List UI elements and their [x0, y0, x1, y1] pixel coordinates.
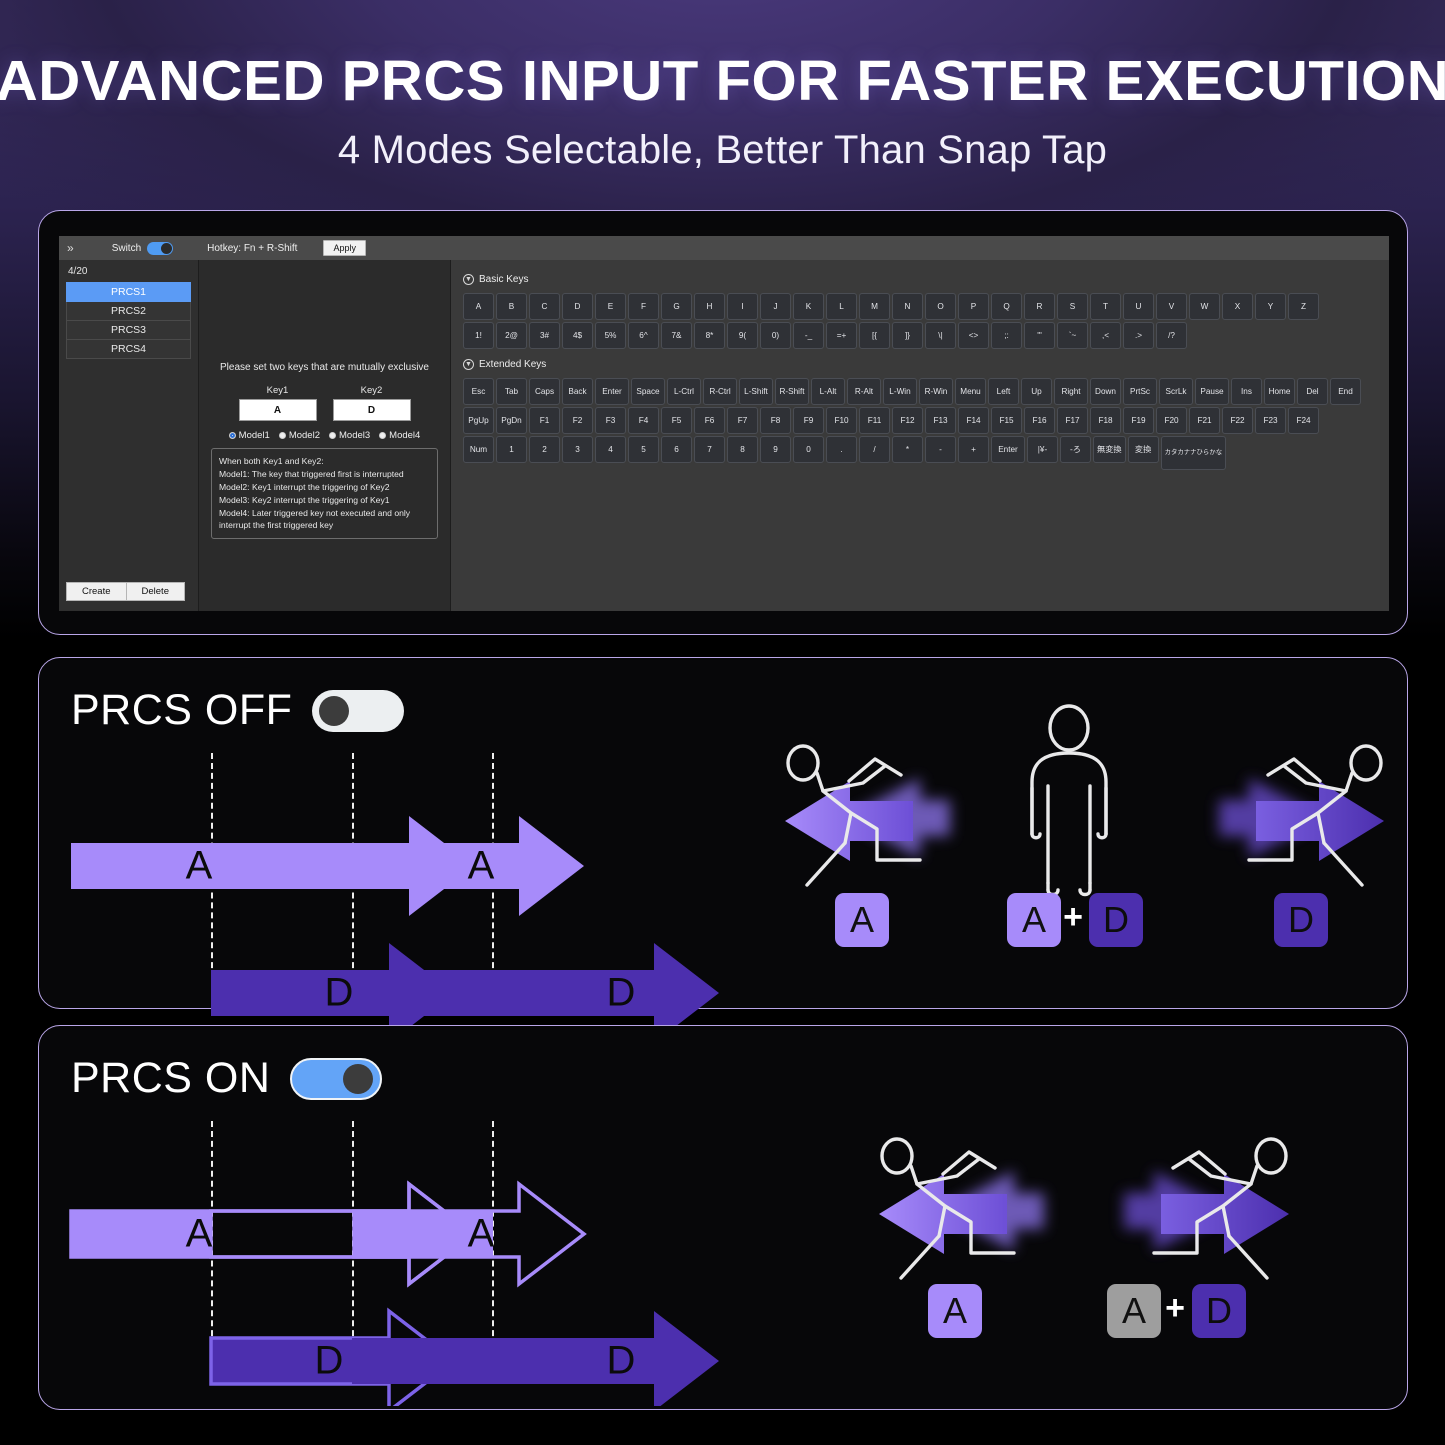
key-3[interactable]: 3# [529, 322, 560, 349]
key-lwin[interactable]: L-Win [883, 378, 917, 405]
key-[interactable]: .> [1123, 322, 1154, 349]
key-[interactable]: 変換 [1128, 436, 1159, 463]
key-badge-d: D [1192, 1284, 1246, 1338]
arrow-d-2-label: D [607, 971, 636, 1016]
key-badge-d: D [1274, 893, 1328, 947]
arrow-a-1-label: A [186, 1212, 213, 1257]
window-toolbar: » Switch Hotkey: Fn + R-Shift Apply [59, 236, 1389, 260]
key-1[interactable]: 1 [496, 436, 527, 463]
key-lctrl[interactable]: L-Ctrl [667, 378, 701, 405]
key-y[interactable]: Y [1255, 293, 1286, 320]
create-button[interactable]: Create [66, 582, 127, 601]
key-f1[interactable]: F1 [529, 407, 560, 434]
key-up[interactable]: Up [1021, 378, 1052, 405]
key-f19[interactable]: F19 [1123, 407, 1154, 434]
key-f22[interactable]: F22 [1222, 407, 1253, 434]
key-f23[interactable]: F23 [1255, 407, 1286, 434]
key-[interactable]: カタカナナひらかな [1161, 436, 1227, 470]
prcs-on-diagram: A A D D A [39, 1026, 1409, 1409]
key-badge-a: A [1007, 893, 1061, 947]
key-f6[interactable]: F6 [694, 407, 725, 434]
profile-list: PRCS1PRCS2PRCS3PRCS4 [59, 282, 198, 359]
key-2[interactable]: 2 [529, 436, 560, 463]
key-8[interactable]: 8* [694, 322, 725, 349]
profile-item-prcs1[interactable]: PRCS1 [66, 282, 191, 302]
arrow-timeline-off [59, 738, 759, 1038]
radio-label: Model2 [289, 430, 320, 441]
key-pgdn[interactable]: PgDn [496, 407, 527, 434]
key-rctrl[interactable]: R-Ctrl [703, 378, 737, 405]
key1-label: Key1 [239, 385, 317, 396]
key-[interactable]: ,< [1090, 322, 1121, 349]
radio-model3[interactable]: Model3 [329, 430, 370, 441]
hotkey-label: Hotkey: Fn + R-Shift [207, 243, 297, 254]
key-g[interactable]: G [661, 293, 692, 320]
key-lalt[interactable]: L-Alt [811, 378, 845, 405]
chevron-down-circle-icon: ▼ [463, 274, 474, 285]
key-0[interactable]: 0) [760, 322, 791, 349]
key-caps[interactable]: Caps [529, 378, 560, 405]
key-[interactable]: <> [958, 322, 989, 349]
profile-item-prcs2[interactable]: PRCS2 [66, 302, 191, 321]
key-f10[interactable]: F10 [826, 407, 857, 434]
key-z[interactable]: Z [1288, 293, 1319, 320]
key-f18[interactable]: F18 [1090, 407, 1121, 434]
key-e[interactable]: E [595, 293, 626, 320]
key-f5[interactable]: F5 [661, 407, 692, 434]
radio-model4[interactable]: Model4 [379, 430, 420, 441]
arrow-a-2-label: A [468, 844, 495, 889]
key-t[interactable]: T [1090, 293, 1121, 320]
model-radio-group: Model1Model2Model3Model4 [207, 430, 442, 441]
description-line: Model4: Later triggered key not executed… [219, 507, 430, 520]
key-esc[interactable]: Esc [463, 378, 494, 405]
radio-dot-icon [379, 432, 386, 439]
key-5[interactable]: 5 [628, 436, 659, 463]
profile-sidebar: 4/20 PRCS1PRCS2PRCS3PRCS4 Create Delete [59, 260, 199, 611]
figure-running-right [1099, 1096, 1329, 1306]
key-enter[interactable]: Enter [595, 378, 629, 405]
prcs-off-diagram: A A D D A [39, 658, 1409, 1008]
key-[interactable]: `~ [1057, 322, 1088, 349]
key-badge-a: A [928, 1284, 982, 1338]
key-rshift[interactable]: R-Shift [775, 378, 809, 405]
arrow-d-1-label: D [315, 1339, 344, 1384]
key-rwin[interactable]: R-Win [919, 378, 953, 405]
profile-actions: Create Delete [66, 582, 185, 601]
basic-keys-header[interactable]: ▼ Basic Keys [463, 274, 1379, 285]
description-line: interrupt the first triggered key [219, 519, 430, 532]
basic-keys-title: Basic Keys [479, 274, 528, 285]
key-f15[interactable]: F15 [991, 407, 1022, 434]
expand-sidebar-icon[interactable]: » [65, 241, 80, 255]
key-2[interactable]: 2@ [496, 322, 527, 349]
key-[interactable]: \| [925, 322, 956, 349]
key-[interactable]: - [925, 436, 956, 463]
key-o[interactable]: O [925, 293, 956, 320]
arrow-a-2-label: A [468, 1212, 495, 1257]
description-line: When both Key1 and Key2: [219, 455, 430, 468]
key-[interactable]: * [892, 436, 923, 463]
key-5[interactable]: 5% [595, 322, 626, 349]
key-f11[interactable]: F11 [859, 407, 890, 434]
radio-model1[interactable]: Model1 [229, 430, 270, 441]
key-[interactable]: . [826, 436, 857, 463]
key-badge-d: D [1089, 893, 1143, 947]
key-menu[interactable]: Menu [955, 378, 986, 405]
key-f13[interactable]: F13 [925, 407, 956, 434]
key-f21[interactable]: F21 [1189, 407, 1220, 434]
key-s[interactable]: S [1057, 293, 1088, 320]
key-l[interactable]: L [826, 293, 857, 320]
extended-keys-row-2: PgUpPgDnF1F2F3F4F5F6F7F8F9F10F11F12F13F1… [463, 407, 1379, 434]
key-f24[interactable]: F24 [1288, 407, 1319, 434]
key-tab[interactable]: Tab [496, 378, 527, 405]
profile-item-prcs3[interactable]: PRCS3 [66, 321, 191, 340]
key-f17[interactable]: F17 [1057, 407, 1088, 434]
key-u[interactable]: U [1123, 293, 1154, 320]
key-[interactable]: 無変換 [1093, 436, 1126, 463]
key-4[interactable]: 4$ [562, 322, 593, 349]
extended-keys-title: Extended Keys [479, 359, 546, 370]
figure-standing-still [1006, 698, 1136, 913]
arrow-d-1-label: D [325, 971, 354, 1016]
key-end[interactable]: End [1330, 378, 1361, 405]
key-f20[interactable]: F20 [1156, 407, 1187, 434]
key-left[interactable]: Left [988, 378, 1019, 405]
description-line: Model2: Key1 interrupt the triggering of… [219, 481, 430, 494]
key-k[interactable]: K [793, 293, 824, 320]
key-f8[interactable]: F8 [760, 407, 791, 434]
key-enter[interactable]: Enter [991, 436, 1025, 463]
key-r[interactable]: R [1024, 293, 1055, 320]
key-[interactable]: -ろ [1060, 436, 1091, 463]
arrow-timeline-on [59, 1106, 759, 1406]
key-f9[interactable]: F9 [793, 407, 824, 434]
key-9[interactable]: 9( [727, 322, 758, 349]
chevron-down-circle-icon: ▼ [463, 359, 474, 370]
key-c[interactable]: C [529, 293, 560, 320]
key-6[interactable]: 6 [661, 436, 692, 463]
radio-dot-icon [329, 432, 336, 439]
key-assign-row: Key1 A Key2 D [207, 385, 442, 421]
key-badge-a: A [835, 893, 889, 947]
profile-count: 4/20 [59, 266, 198, 277]
radio-label: Model4 [389, 430, 420, 441]
arrow-a-1-label: A [186, 844, 213, 889]
key-pause[interactable]: Pause [1195, 378, 1229, 405]
key-h[interactable]: H [694, 293, 725, 320]
key-7[interactable]: 7 [694, 436, 725, 463]
key-picker-panel: ▼ Basic Keys ABCDEFGHIJKLMNOPQRSTUVWXYZ … [451, 260, 1389, 611]
key-v[interactable]: V [1156, 293, 1187, 320]
config-panel: Please set two keys that are mutually ex… [199, 260, 451, 611]
key-[interactable]: -_ [793, 322, 824, 349]
key-f4[interactable]: F4 [628, 407, 659, 434]
radio-label: Model3 [339, 430, 370, 441]
key-down[interactable]: Down [1090, 378, 1121, 405]
key-q[interactable]: Q [991, 293, 1022, 320]
key-f7[interactable]: F7 [727, 407, 758, 434]
key-0[interactable]: 0 [793, 436, 824, 463]
key-m[interactable]: M [859, 293, 890, 320]
key-prtsc[interactable]: PrtSc [1123, 378, 1157, 405]
key-back[interactable]: Back [562, 378, 593, 405]
key-del[interactable]: Del [1297, 378, 1328, 405]
prcs-off-card: PRCS OFF A A D D [38, 657, 1408, 1009]
plus-sign: + [1165, 1289, 1185, 1328]
config-hint: Please set two keys that are mutually ex… [207, 362, 442, 373]
page-subtitle: 4 Modes Selectable, Better Than Snap Tap [0, 128, 1445, 173]
apply-button[interactable]: Apply [323, 240, 366, 256]
key-[interactable]: =+ [826, 322, 857, 349]
basic-keys-row-letters: ABCDEFGHIJKLMNOPQRSTUVWXYZ [463, 293, 1379, 320]
key-f16[interactable]: F16 [1024, 407, 1055, 434]
key-6[interactable]: 6^ [628, 322, 659, 349]
switch-toggle[interactable] [147, 242, 173, 255]
key-w[interactable]: W [1189, 293, 1220, 320]
key2-input[interactable]: D [333, 399, 411, 421]
extended-keys-row-1: EscTabCapsBackEnterSpaceL-CtrlR-CtrlL-Sh… [463, 378, 1379, 405]
key-p[interactable]: P [958, 293, 989, 320]
key-[interactable]: + [958, 436, 989, 463]
switch-label: Switch [112, 243, 141, 254]
key-3[interactable]: 3 [562, 436, 593, 463]
delete-button[interactable]: Delete [127, 582, 185, 601]
figure-running-left [745, 703, 975, 913]
key-home[interactable]: Home [1264, 378, 1295, 405]
key-[interactable]: / [859, 436, 890, 463]
hero-section: ADVANCED PRCS INPUT FOR FASTER EXECUTION… [0, 0, 1445, 173]
radio-label: Model1 [239, 430, 270, 441]
key-f14[interactable]: F14 [958, 407, 989, 434]
key-pgup[interactable]: PgUp [463, 407, 494, 434]
key-a[interactable]: A [463, 293, 494, 320]
basic-keys-row-symbols: 1!2@3#4$5%6^7&8*9(0)-_=+[{]}\|<>;:'"`~,<… [463, 322, 1379, 349]
plus-sign: + [1063, 898, 1083, 937]
prcs-on-card: PRCS ON A A D D [38, 1025, 1408, 1410]
figure-running-right [1194, 703, 1424, 913]
extended-keys-row-3: Num1234567890./*-+Enter|¥--ろ無変換変換カタカナナひら… [463, 436, 1379, 470]
key-f12[interactable]: F12 [892, 407, 923, 434]
key-[interactable]: [{ [859, 322, 890, 349]
key-n[interactable]: N [892, 293, 923, 320]
key2-group: Key2 D [333, 385, 411, 421]
key-d[interactable]: D [562, 293, 593, 320]
configurator-window: » Switch Hotkey: Fn + R-Shift Apply 4/20… [59, 236, 1389, 611]
radio-dot-icon [229, 432, 236, 439]
key-f[interactable]: F [628, 293, 659, 320]
key-f3[interactable]: F3 [595, 407, 626, 434]
window-body: 4/20 PRCS1PRCS2PRCS3PRCS4 Create Delete … [59, 260, 1389, 611]
key-right[interactable]: Right [1054, 378, 1088, 405]
key-ins[interactable]: Ins [1231, 378, 1262, 405]
key-b[interactable]: B [496, 293, 527, 320]
arrow-d-2-label: D [607, 1339, 636, 1384]
key1-input[interactable]: A [239, 399, 317, 421]
key-f2[interactable]: F2 [562, 407, 593, 434]
profile-item-prcs4[interactable]: PRCS4 [66, 340, 191, 359]
key-[interactable]: /? [1156, 322, 1187, 349]
radio-dot-icon [279, 432, 286, 439]
key-8[interactable]: 8 [727, 436, 758, 463]
key-badge-a-inactive: A [1107, 1284, 1161, 1338]
key1-group: Key1 A [239, 385, 317, 421]
software-screenshot-card: » Switch Hotkey: Fn + R-Shift Apply 4/20… [38, 210, 1408, 635]
key-scrlk[interactable]: ScrLk [1159, 378, 1193, 405]
key-[interactable]: ]} [892, 322, 923, 349]
key-ralt[interactable]: R-Alt [847, 378, 881, 405]
key-lshift[interactable]: L-Shift [739, 378, 773, 405]
key-[interactable]: |¥- [1027, 436, 1058, 463]
extended-keys-header[interactable]: ▼ Extended Keys [463, 359, 1379, 370]
key-[interactable]: ;: [991, 322, 1022, 349]
key-7[interactable]: 7& [661, 322, 692, 349]
key-num[interactable]: Num [463, 436, 494, 463]
key2-label: Key2 [333, 385, 411, 396]
key-i[interactable]: I [727, 293, 758, 320]
description-line: Model1: The key that triggered first is … [219, 468, 430, 481]
key-4[interactable]: 4 [595, 436, 626, 463]
description-line: Model3: Key2 interrupt the triggering of… [219, 494, 430, 507]
model-description: When both Key1 and Key2:Model1: The key … [211, 448, 438, 539]
key-space[interactable]: Space [631, 378, 665, 405]
key-1[interactable]: 1! [463, 322, 494, 349]
page-title: ADVANCED PRCS INPUT FOR FASTER EXECUTION [0, 48, 1445, 114]
key-9[interactable]: 9 [760, 436, 791, 463]
key-x[interactable]: X [1222, 293, 1253, 320]
key-[interactable]: '" [1024, 322, 1055, 349]
key-j[interactable]: J [760, 293, 791, 320]
figure-running-left [839, 1096, 1069, 1306]
radio-model2[interactable]: Model2 [279, 430, 320, 441]
